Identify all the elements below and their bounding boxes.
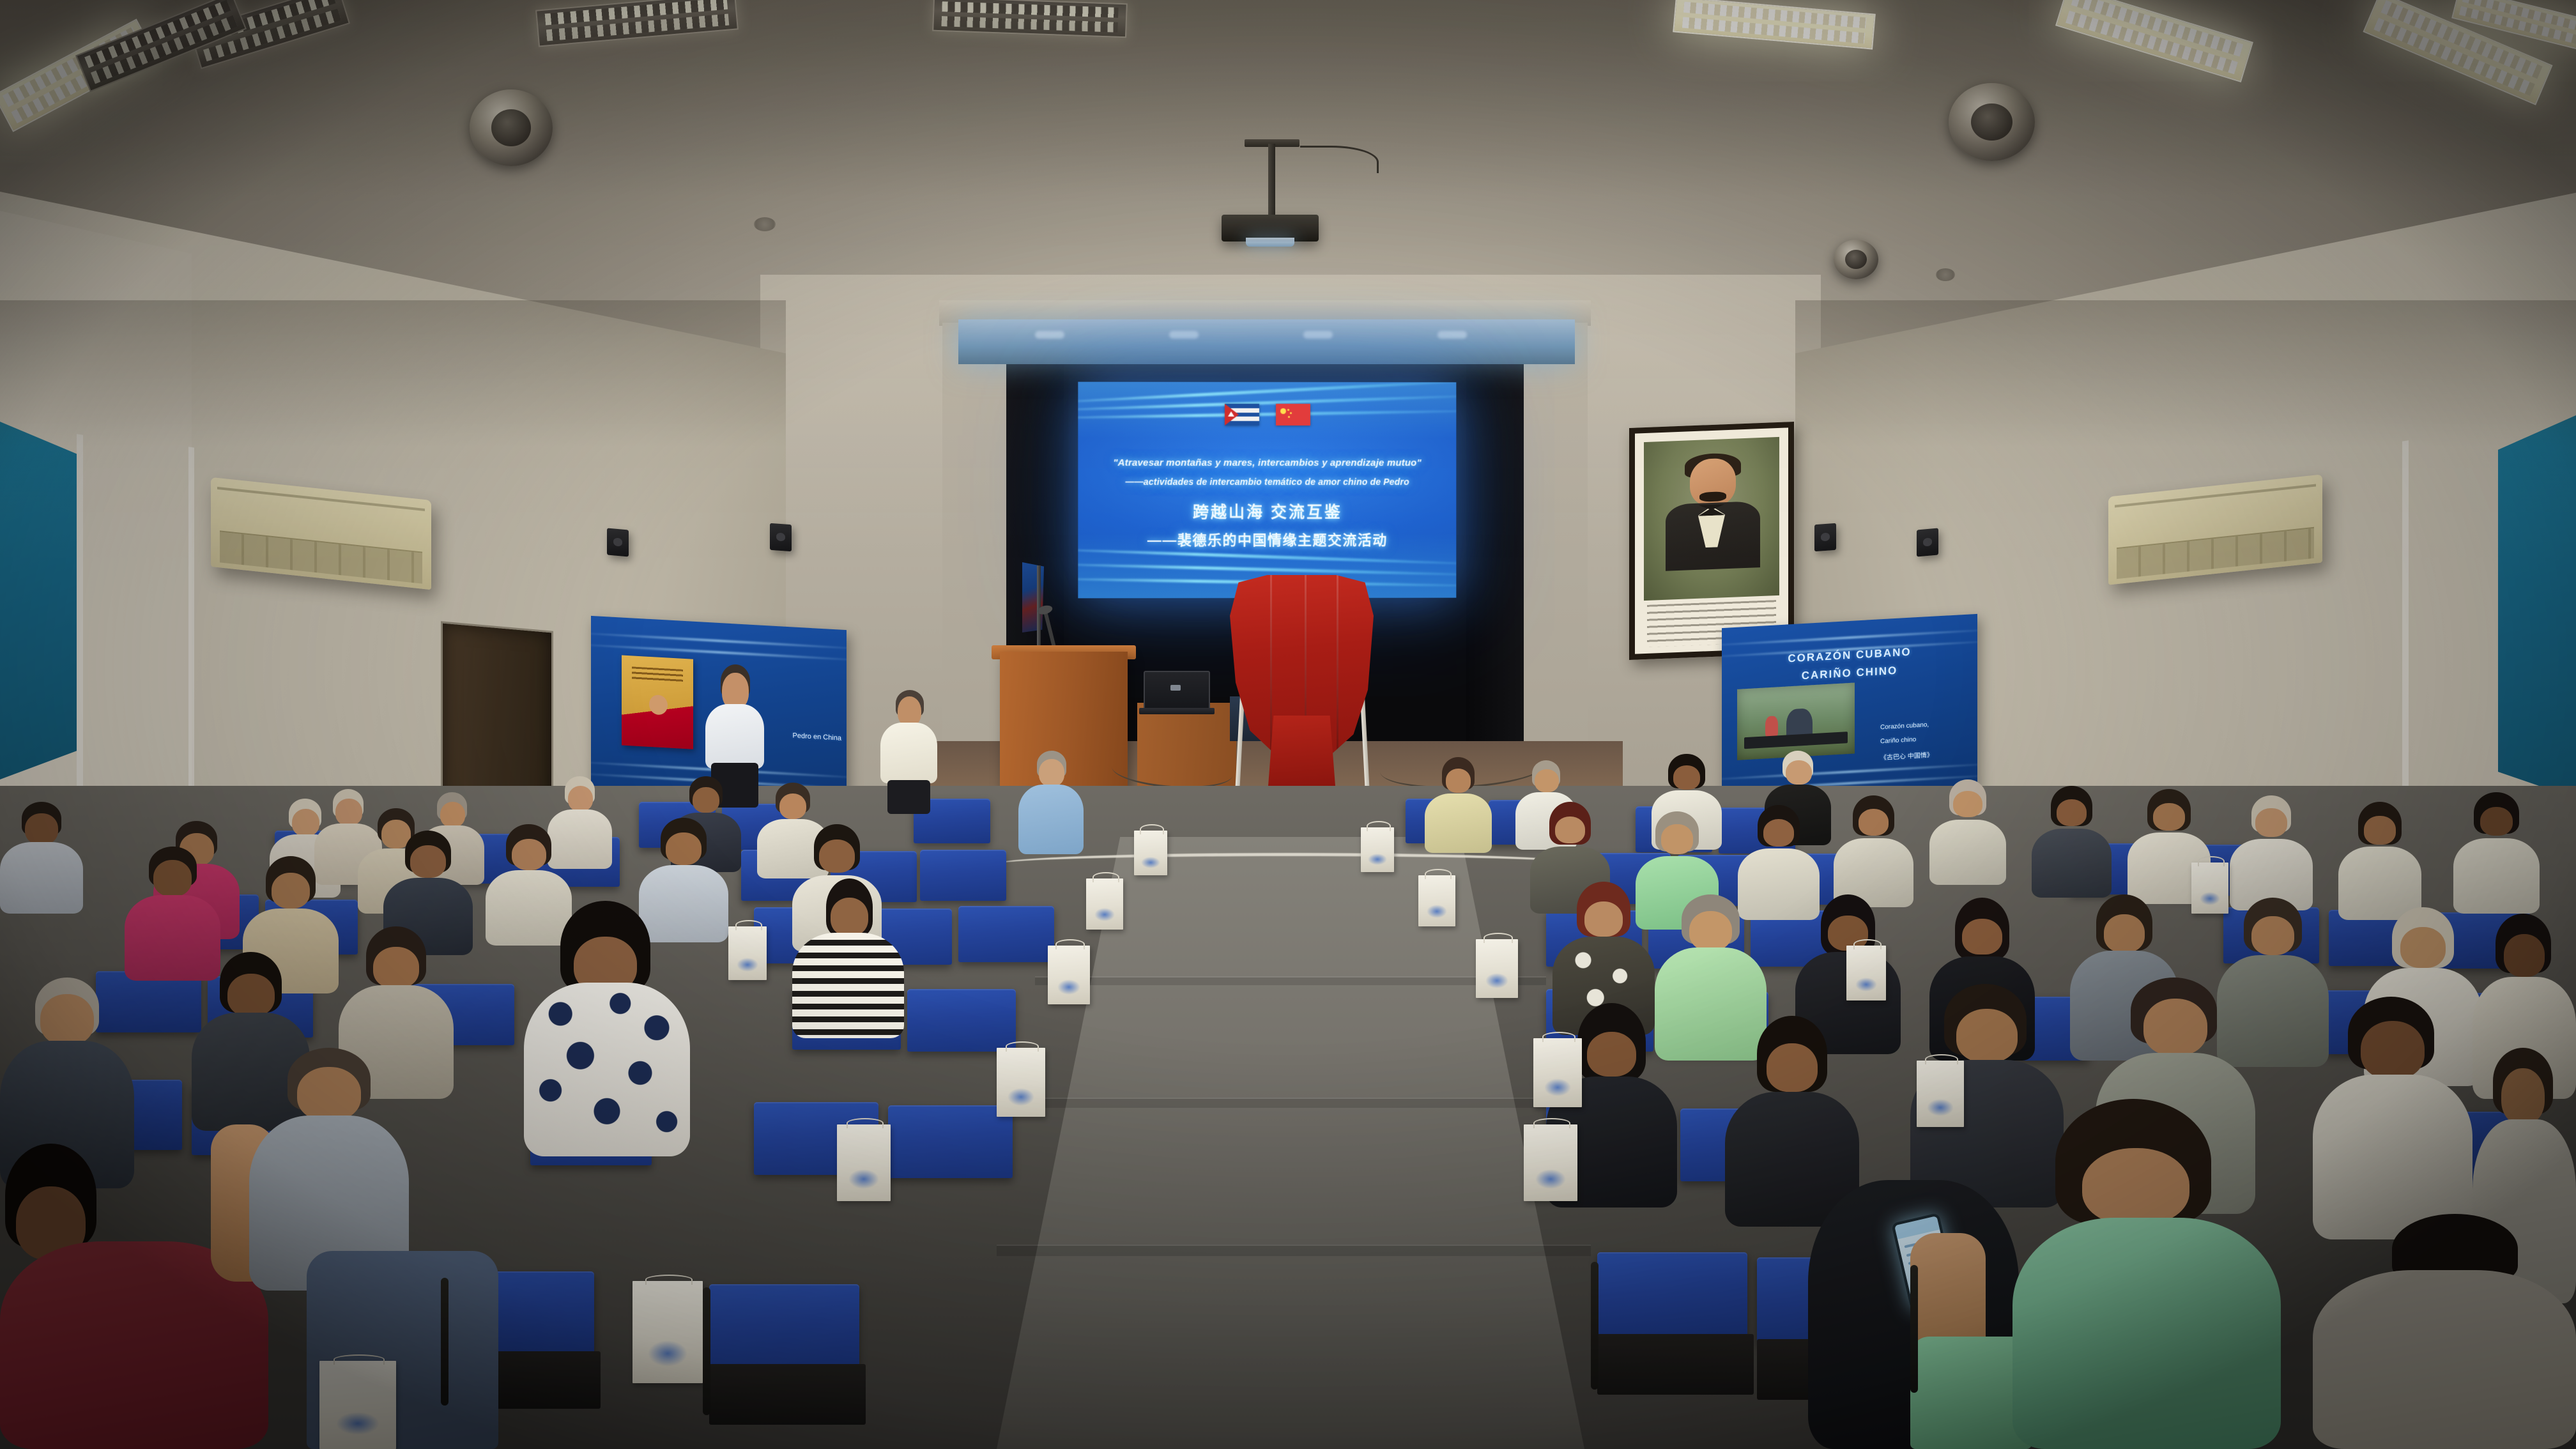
person-striped-top (792, 933, 904, 1038)
person-trousers (887, 780, 930, 814)
seated-attendee-patterned-dress (524, 901, 690, 1156)
gift-bag[interactable] (1361, 827, 1394, 872)
person-head (2153, 803, 2184, 831)
gift-bag-logo (1427, 905, 1447, 918)
ceiling-dome-fixture (1949, 83, 2035, 161)
person-head (831, 898, 869, 936)
seated-attendee-striped (792, 878, 904, 1038)
seated-attendee (1834, 795, 1913, 907)
chair-armrest (703, 1287, 710, 1415)
gift-bag[interactable] (1048, 946, 1090, 1004)
banner-right-sub2: Cariño chino (1880, 735, 1916, 747)
slide-chinese-title: 跨越山海 交流互鉴 (1093, 500, 1441, 523)
chair-frame (709, 1364, 866, 1425)
wall-seam (2402, 440, 2409, 799)
person-shirt (0, 842, 83, 914)
gift-bag[interactable] (728, 926, 767, 980)
book-cover-portrait (649, 694, 668, 716)
aisle-step (997, 1246, 1591, 1256)
person-head (1767, 1043, 1818, 1092)
wall-speaker (1917, 528, 1938, 557)
person-head (2251, 916, 2294, 955)
person-head (1786, 760, 1812, 785)
wall-seam (77, 434, 83, 793)
chair-armrest (1910, 1265, 1918, 1393)
gift-bag-logo (648, 1340, 687, 1367)
person-head (1446, 769, 1471, 793)
gift-bag-logo (1008, 1088, 1035, 1106)
person-head (1535, 769, 1559, 792)
person-head (666, 832, 701, 865)
person-head (1661, 824, 1692, 854)
person-head (1956, 1009, 2018, 1062)
seated-attendee (2338, 802, 2421, 920)
person-head (1039, 759, 1064, 786)
person-head (779, 793, 807, 820)
gift-bag-logo (848, 1169, 878, 1189)
aisle-step (1035, 977, 1546, 985)
gift-bag-logo (1057, 979, 1081, 995)
chair[interactable] (907, 989, 1016, 1052)
person-shirt (2313, 1270, 2576, 1449)
slide-spanish-subtitle: ——actividades de intercambio temático de… (1093, 477, 1441, 487)
gift-bag-logo (737, 958, 758, 972)
person-head (898, 696, 922, 727)
seated-attendee (2313, 997, 2472, 1239)
framed-portrait (1629, 422, 1794, 660)
wall-shadow (0, 300, 786, 447)
gift-bag[interactable] (1524, 1124, 1577, 1201)
photo-figure-child (1765, 716, 1778, 737)
chair[interactable] (1597, 1252, 1747, 1339)
slide-spanish-quote: "Atravesar montañas y mares, intercambio… (1093, 457, 1441, 468)
seated-attendee (0, 802, 83, 914)
person-head (410, 845, 446, 878)
banner-right-sub1: Corazón cubano, (1880, 719, 1929, 733)
person-head (819, 839, 855, 873)
gift-bag-logo (1535, 1169, 1565, 1189)
person-head (693, 787, 719, 813)
gift-bag-logo (1485, 973, 1509, 988)
chair[interactable] (958, 906, 1054, 962)
person-head (1673, 765, 1700, 790)
banner-right-photo (1737, 683, 1855, 760)
person-head (1962, 919, 2002, 954)
gift-bag-logo (1544, 1078, 1572, 1096)
stage-curtain-right (1466, 358, 1524, 773)
gift-bag-logo (1141, 857, 1160, 868)
auditorium-photo: "Atravesar montañas y mares, intercambio… (0, 0, 2576, 1449)
person-shirt (1929, 820, 2006, 885)
wall-speaker (607, 528, 629, 557)
book-cover-image (622, 655, 693, 749)
slide-flags-row (1078, 403, 1456, 425)
gift-bag-logo (1094, 908, 1115, 921)
person-patterned-dress (524, 983, 690, 1156)
wall-speaker (770, 523, 792, 551)
flag-china-icon (1276, 404, 1310, 425)
slide-chinese-subtitle: ——裴德乐的中国情缘主题交流活动 (1093, 529, 1441, 549)
person-head (1689, 911, 1732, 951)
slide-text-block: "Atravesar montañas y mares, intercambio… (1093, 457, 1441, 549)
gift-bag[interactable] (1418, 875, 1455, 926)
gift-bag[interactable] (2191, 862, 2228, 914)
drape-skirt (1268, 716, 1335, 786)
person-head (297, 1067, 361, 1121)
person-head (1953, 791, 1982, 817)
person-head (40, 994, 94, 1045)
person-head (2104, 914, 2145, 953)
person-shirt (2453, 838, 2540, 914)
banner-right-sub3: 《古巴心 中国情》 (1880, 749, 1933, 763)
ceiling-dome-fixture (470, 89, 553, 166)
person-head (2400, 927, 2445, 968)
person-head (2361, 1021, 2425, 1079)
person-head (1555, 816, 1586, 843)
person-head (440, 802, 466, 828)
aisle-step (1016, 1099, 1572, 1108)
person-head (1859, 809, 1889, 836)
flag-cuba-icon (1225, 404, 1259, 425)
person-head (227, 974, 275, 1016)
gift-bag-logo (2200, 892, 2220, 905)
person-head (2480, 807, 2513, 836)
person-head (2082, 1148, 2189, 1225)
person-head (373, 947, 419, 988)
projector-lens (1246, 238, 1294, 247)
seated-attendee (1425, 757, 1492, 853)
person-head (568, 786, 594, 812)
seated-attendee (2032, 786, 2112, 898)
standing-presenter (875, 690, 942, 811)
banner-right: CORAZÓN CUBANO CARIÑO CHINO Corazón cuba… (1722, 614, 1977, 806)
person-shirt (880, 723, 937, 783)
person-head (1587, 1032, 1637, 1077)
photo-bench (1744, 732, 1848, 749)
person-shirt (705, 704, 764, 769)
rope-barrier (997, 853, 1584, 875)
gift-bag[interactable] (997, 1048, 1045, 1117)
person-head (2364, 816, 2395, 844)
projector-pole (1268, 144, 1275, 217)
projection-screen: "Atravesar montañas y mares, intercambio… (1078, 382, 1456, 599)
person-head (2255, 808, 2287, 837)
person-head (2143, 999, 2207, 1055)
gift-bag[interactable] (1476, 939, 1518, 998)
smoke-detector (1936, 268, 1955, 281)
gift-bag[interactable] (1846, 946, 1886, 1000)
wall-shadow (1795, 300, 2576, 447)
chair[interactable] (920, 850, 1006, 901)
person-head (2501, 1068, 2545, 1124)
chair-armrest (1591, 1262, 1598, 1390)
gift-bag-logo (1855, 977, 1878, 992)
person-head (512, 839, 546, 870)
chair-armrest (441, 1278, 448, 1406)
laptop-base (1139, 708, 1215, 714)
person-head (2057, 799, 2087, 826)
gift-bag[interactable] (1134, 831, 1167, 875)
person-head (25, 813, 58, 845)
seated-attendee (2453, 792, 2540, 914)
presentation-laptop[interactable] (1144, 671, 1210, 712)
portrait-mustache (1699, 491, 1726, 502)
seated-attendee (1016, 751, 1086, 856)
gift-bag[interactable] (1533, 1038, 1582, 1107)
foreground-attendee-right-edge (2313, 1214, 2576, 1449)
person-head (1763, 819, 1795, 847)
gift-bag-logo (336, 1412, 379, 1435)
person-head (2504, 934, 2545, 977)
seated-attendee (1929, 779, 2006, 885)
ceiling-dome-fixture (1834, 240, 1878, 279)
person-head (272, 873, 310, 908)
gift-bag[interactable] (319, 1361, 396, 1449)
person-head (153, 860, 192, 896)
smoke-detector (754, 217, 776, 231)
stage-soffit-lighting (958, 319, 1575, 364)
gift-bag[interactable] (632, 1281, 703, 1383)
portrait-image (1644, 437, 1779, 601)
gift-bag[interactable] (837, 1124, 891, 1201)
gift-bag-logo (1368, 854, 1386, 865)
gift-bag-logo (1927, 1099, 1953, 1116)
person-shirt (2032, 829, 2112, 898)
wall-accent-panel-right (2498, 415, 2576, 799)
banner-left-caption: Pedro en China (793, 730, 841, 744)
person-shirt (1425, 793, 1492, 853)
chair-frame (1597, 1334, 1754, 1395)
seated-attendee (2230, 795, 2313, 910)
gift-bag[interactable] (1086, 878, 1123, 930)
wall-seam (188, 447, 194, 792)
book-title-lines (632, 667, 684, 684)
person-shirt (1018, 785, 1083, 854)
chair[interactable] (709, 1284, 859, 1372)
person-head (1584, 901, 1623, 937)
chair[interactable] (888, 1105, 1013, 1178)
person-green-top (2012, 1218, 2281, 1449)
wall-accent-panel-left (0, 422, 77, 779)
gift-bag[interactable] (1917, 1061, 1964, 1127)
wall-speaker (1814, 523, 1836, 551)
foreground-attendee-green (2012, 1099, 2281, 1449)
